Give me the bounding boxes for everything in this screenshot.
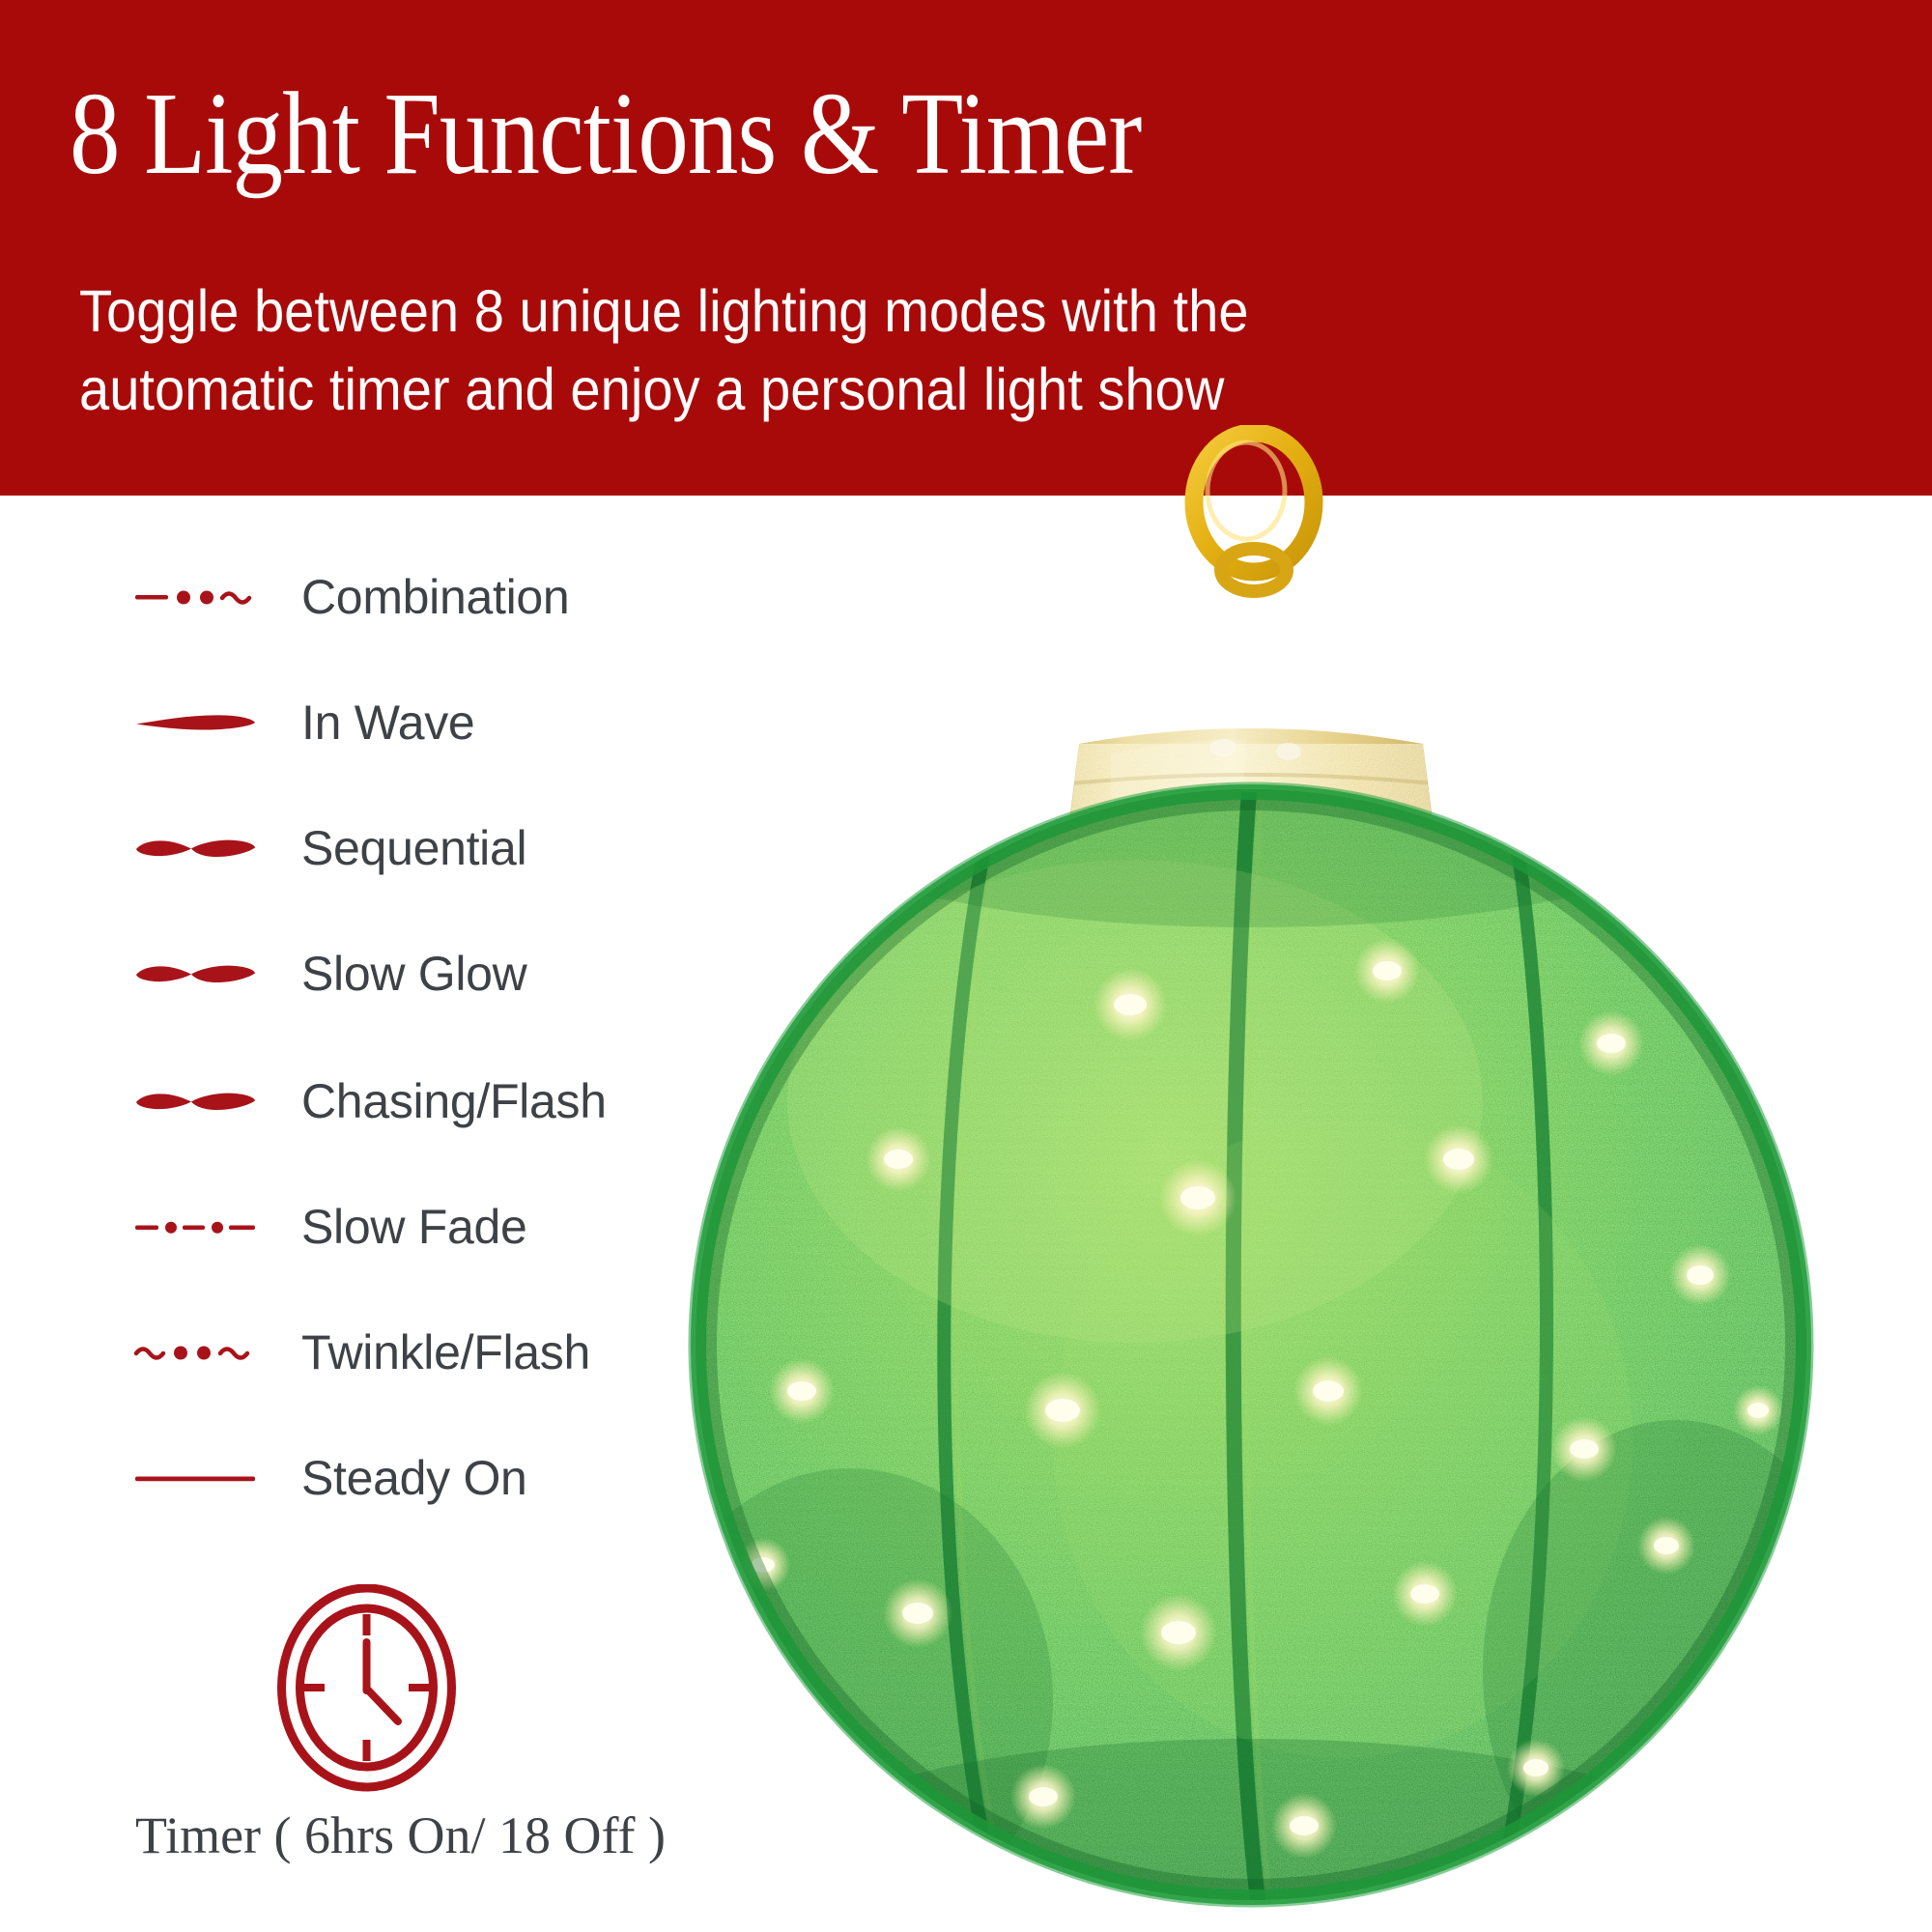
legend-item-steady-on: Steady On: [0, 1444, 527, 1512]
dash-dot-dash-dot-dash-icon: [135, 1198, 280, 1256]
timer-caption: Timer ( 6hrs On/ 18 Off ): [135, 1805, 666, 1865]
ornament-image: [609, 425, 1893, 1932]
double-lens-icon: [135, 819, 280, 877]
clock-icon: [277, 1584, 456, 1792]
legend-item-label: Sequential: [301, 820, 526, 876]
dash-dot-dot-wave-icon: [135, 568, 280, 626]
legend-item-label: Combination: [301, 569, 569, 625]
legend-item-label: In Wave: [301, 695, 474, 751]
legend-item-label: Steady On: [301, 1450, 527, 1506]
legend-item-sequential: Sequential: [0, 814, 526, 882]
ornament-green-ball: [647, 715, 1869, 1932]
legend-item-slow-fade: Slow Fade: [0, 1193, 527, 1261]
legend-item-label: Slow Glow: [301, 946, 526, 1002]
long-taper-wave-icon: [135, 694, 280, 752]
page-title: 8 Light Functions & Timer: [70, 75, 1141, 193]
wave-dot-dot-wave-icon: [135, 1323, 280, 1381]
legend-item-twinkle-flash: Twinkle/Flash: [0, 1319, 590, 1386]
legend-item-chasing-flash: Chasing/Flash: [0, 1067, 607, 1135]
legend-item-slow-glow: Slow Glow: [0, 940, 526, 1008]
legend-item-in-wave: In Wave: [0, 689, 474, 756]
legend-item-label: Chasing/Flash: [301, 1073, 607, 1129]
legend-item-label: Twinkle/Flash: [301, 1324, 590, 1380]
double-lens-icon: [135, 945, 280, 1003]
page-subtitle: Toggle between 8 unique lighting modes w…: [79, 272, 1249, 429]
header-banner: 8 Light Functions & Timer Toggle between…: [0, 0, 1932, 496]
legend-item-label: Slow Fade: [301, 1199, 527, 1255]
legend-item-combination: Combination: [0, 563, 569, 631]
double-lens-icon: [135, 1072, 280, 1130]
ornament-hanging-ring: [1194, 433, 1314, 591]
solid-line-icon: [135, 1449, 280, 1507]
